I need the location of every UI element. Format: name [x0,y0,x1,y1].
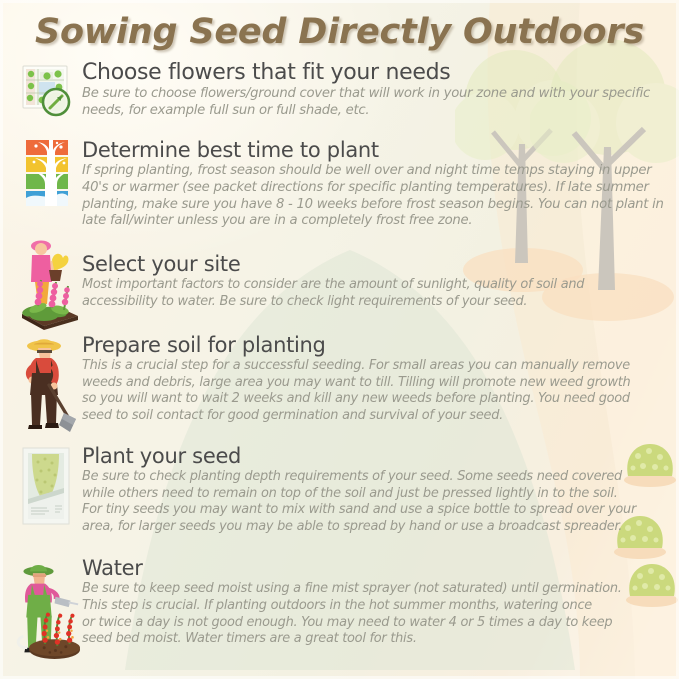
section-heading: Plant your seed [82,446,671,467]
section-prepare-soil: Prepare soil for planting This is a cruc… [14,333,671,433]
section-heading: Prepare soil for planting [82,335,671,356]
section-body: Be sure to check planting depth requirem… [82,469,671,535]
body-line: while others need to remain on top of th… [82,486,671,503]
section-select-site: Select your site Most important factors … [14,252,671,332]
flower-bed-planting-icon [14,252,80,332]
body-line: Most important factors to consider are t… [82,277,671,293]
body-line: This is a crucial step for a successful … [82,358,671,374]
section-body: This is a crucial step for a successful … [82,358,671,424]
four-seasons-icon [14,138,80,210]
section-determine-time: Determine best time to plant If spring p… [14,138,671,230]
section-heading: Water [82,558,671,579]
section-plant-seed: Plant your seed Be sure to check plantin… [14,444,671,535]
body-line: For tiny seeds you may want to mix with … [82,502,671,519]
gardener-watering-icon [14,556,80,664]
body-line: planting, make sure you have 8 - 10 week… [82,197,671,214]
section-heading: Select your site [82,254,671,275]
body-line: Be sure to check planting depth requirem… [82,469,671,486]
section-heading: Determine best time to plant [82,140,671,161]
body-line: This step is crucial. If planting outdoo… [82,598,671,615]
infographic-poster: Sowing Seed Directly Outdoors [0,0,679,679]
body-line: so you will want to wait 2 weeks and kil… [82,391,671,407]
page-title: Sowing Seed Directly Outdoors [0,12,679,52]
section-body: Be sure to keep seed moist using a fine … [82,581,671,647]
section-water: Water Be sure to keep seed moist using a… [14,556,671,664]
body-line: seed bed moist. Water timers are a great… [82,631,671,648]
gardener-with-shovel-icon [14,333,80,433]
section-body: Be sure to choose flowers/ground cover t… [82,86,671,119]
body-line: accessibility to water. Be sure to check… [82,294,671,310]
body-line: needs, for example full sun or full shad… [82,103,671,120]
garden-plan-compass-icon [14,60,80,122]
body-line: area, for larger seeds you may be able t… [82,519,671,536]
section-body: Most important factors to consider are t… [82,277,671,310]
body-line: or twice a day is not good enough. You m… [82,615,671,632]
body-line: Be sure to keep seed moist using a fine … [82,581,671,598]
seed-packet-icon [14,444,80,530]
section-choose-flowers: Choose flowers that fit your needs Be su… [14,60,671,122]
body-line: weeds and debris, large area you may wan… [82,375,671,391]
body-line: If spring planting, frost season should … [82,163,671,180]
section-heading: Choose flowers that fit your needs [82,62,671,84]
section-body: If spring planting, frost season should … [82,163,671,229]
body-line: Be sure to choose flowers/ground cover t… [82,86,671,103]
body-line: seed to soil contact for good germinatio… [82,408,671,424]
body-line: late fall/winter unless you are in a com… [82,213,671,230]
body-line: 40's or warmer (see packet directions fo… [82,180,671,197]
